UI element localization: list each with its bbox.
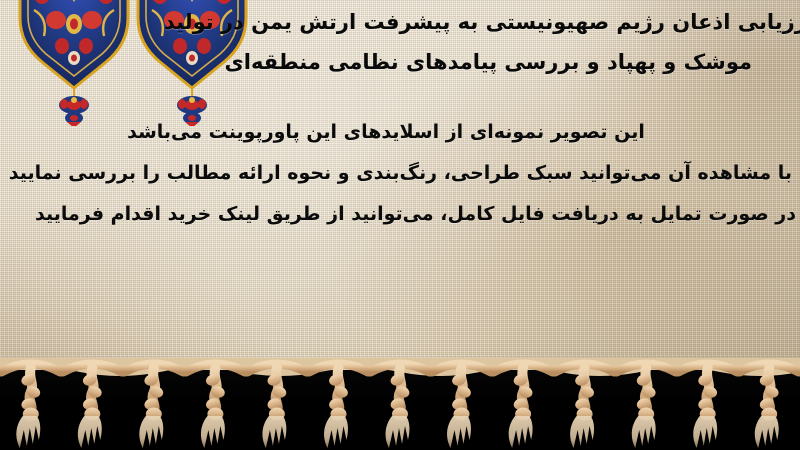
fringe-tassel	[555, 364, 614, 448]
fringe-tassel	[63, 364, 122, 448]
body-line-1: این تصویر نمونه‌ای از اسلایدهای این پاور…	[36, 112, 796, 153]
title-line-1: ارزیابی اذعان رژیم صهیونیستی به پیشرفت ا…	[106, 2, 800, 42]
slide-title: ارزیابی اذعان رژیم صهیونیستی به پیشرفت ا…	[106, 2, 796, 82]
fringe-tassel	[617, 364, 676, 448]
body-line-3: در صورت تمایل به دریافت فایل کامل، می‌تو…	[36, 194, 796, 235]
body-line-2: با مشاهده آن می‌توانید سبک طراحی، رنگ‌بن…	[36, 153, 796, 194]
fringe-tassel	[186, 364, 245, 448]
fringe-tassel	[494, 364, 553, 448]
slide-text-layer: ارزیابی اذعان رژیم صهیونیستی به پیشرفت ا…	[0, 0, 800, 380]
title-line-2: موشک و پهپاد و بررسی پیامدهای نظامی منطق…	[106, 42, 752, 82]
fringe-tassel	[247, 364, 306, 448]
fringe-tassel	[432, 364, 491, 448]
slide-body: این تصویر نمونه‌ای از اسلایدهای این پاور…	[36, 112, 796, 235]
fringe-tassel	[371, 364, 430, 448]
fringe-tassel	[309, 364, 368, 448]
fringe-tassel	[124, 364, 183, 448]
fringe-tassel	[678, 364, 737, 448]
presentation-slide: ارزیابی اذعان رژیم صهیونیستی به پیشرفت ا…	[0, 0, 800, 450]
fringe-tassel	[1, 364, 60, 448]
carpet-fringe-tassels	[0, 358, 800, 450]
fringe-tassel	[740, 364, 799, 448]
